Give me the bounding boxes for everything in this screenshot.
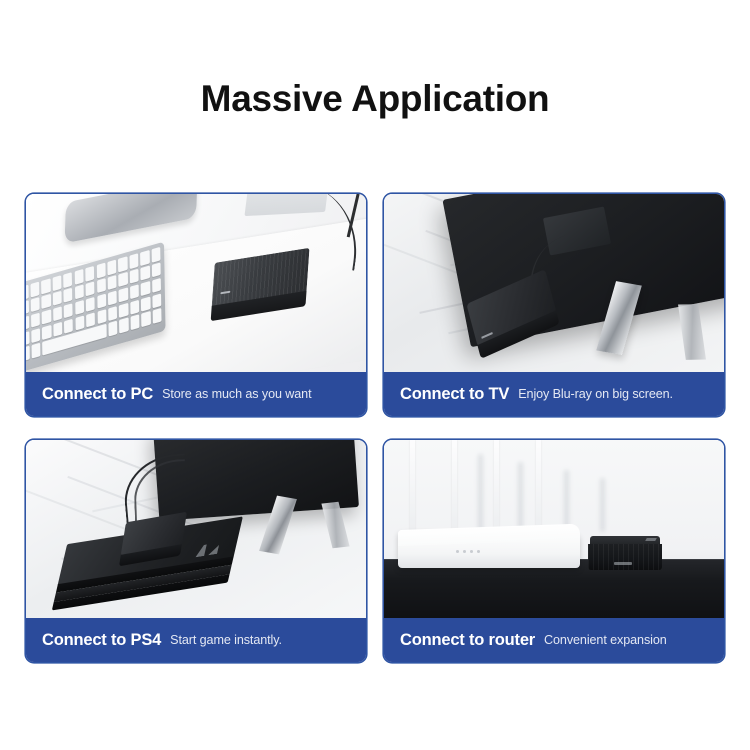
panel-pc-caption: Connect to PC Store as much as you want (26, 372, 366, 416)
panel-ps4-title: Connect to PS4 (42, 631, 161, 650)
antenna-shadow-icon (478, 454, 483, 532)
router-led-indicators (456, 550, 480, 553)
panel-connect-to-pc[interactable]: Connect to PC Store as much as you want (26, 194, 366, 416)
shelf-surface (384, 560, 724, 618)
marketing-image: Massive Application (0, 0, 750, 750)
panel-tv-caption: Connect to TV Enjoy Blu-ray on big scree… (384, 372, 724, 416)
router-antenna-icon (494, 440, 499, 534)
page-title: Massive Application (0, 75, 750, 123)
router-antenna-icon (410, 440, 415, 534)
panel-router-subtitle: Convenient expansion (544, 633, 667, 647)
wireless-router-icon (398, 530, 580, 568)
router-antenna-icon (452, 440, 457, 534)
antenna-shadow-icon (564, 470, 569, 532)
panel-tv-subtitle: Enjoy Blu-ray on big screen. (518, 387, 673, 401)
panel-connect-to-ps4[interactable]: Connect to PS4 Start game instantly. (26, 440, 366, 662)
antenna-shadow-icon (600, 478, 605, 532)
panel-pc-title: Connect to PC (42, 385, 153, 404)
application-panel-grid: Connect to PC Store as much as you want … (26, 194, 724, 684)
router-antenna-icon (536, 440, 541, 534)
panel-ps4-photo (26, 440, 366, 618)
panel-tv-title: Connect to TV (400, 385, 509, 404)
panel-connect-to-router[interactable]: Connect to router Convenient expansion (384, 440, 724, 662)
panel-pc-subtitle: Store as much as you want (162, 387, 311, 401)
panel-connect-to-tv[interactable]: Connect to TV Enjoy Blu-ray on big scree… (384, 194, 724, 416)
panel-ps4-subtitle: Start game instantly. (170, 633, 282, 647)
panel-router-caption: Connect to router Convenient expansion (384, 618, 724, 662)
panel-tv-photo (384, 194, 724, 372)
panel-pc-photo (26, 194, 366, 372)
portable-hard-drive-icon (588, 536, 662, 570)
panel-router-title: Connect to router (400, 631, 535, 650)
panel-ps4-caption: Connect to PS4 Start game instantly. (26, 618, 366, 662)
panel-router-photo (384, 440, 724, 618)
antenna-shadow-icon (518, 462, 523, 532)
